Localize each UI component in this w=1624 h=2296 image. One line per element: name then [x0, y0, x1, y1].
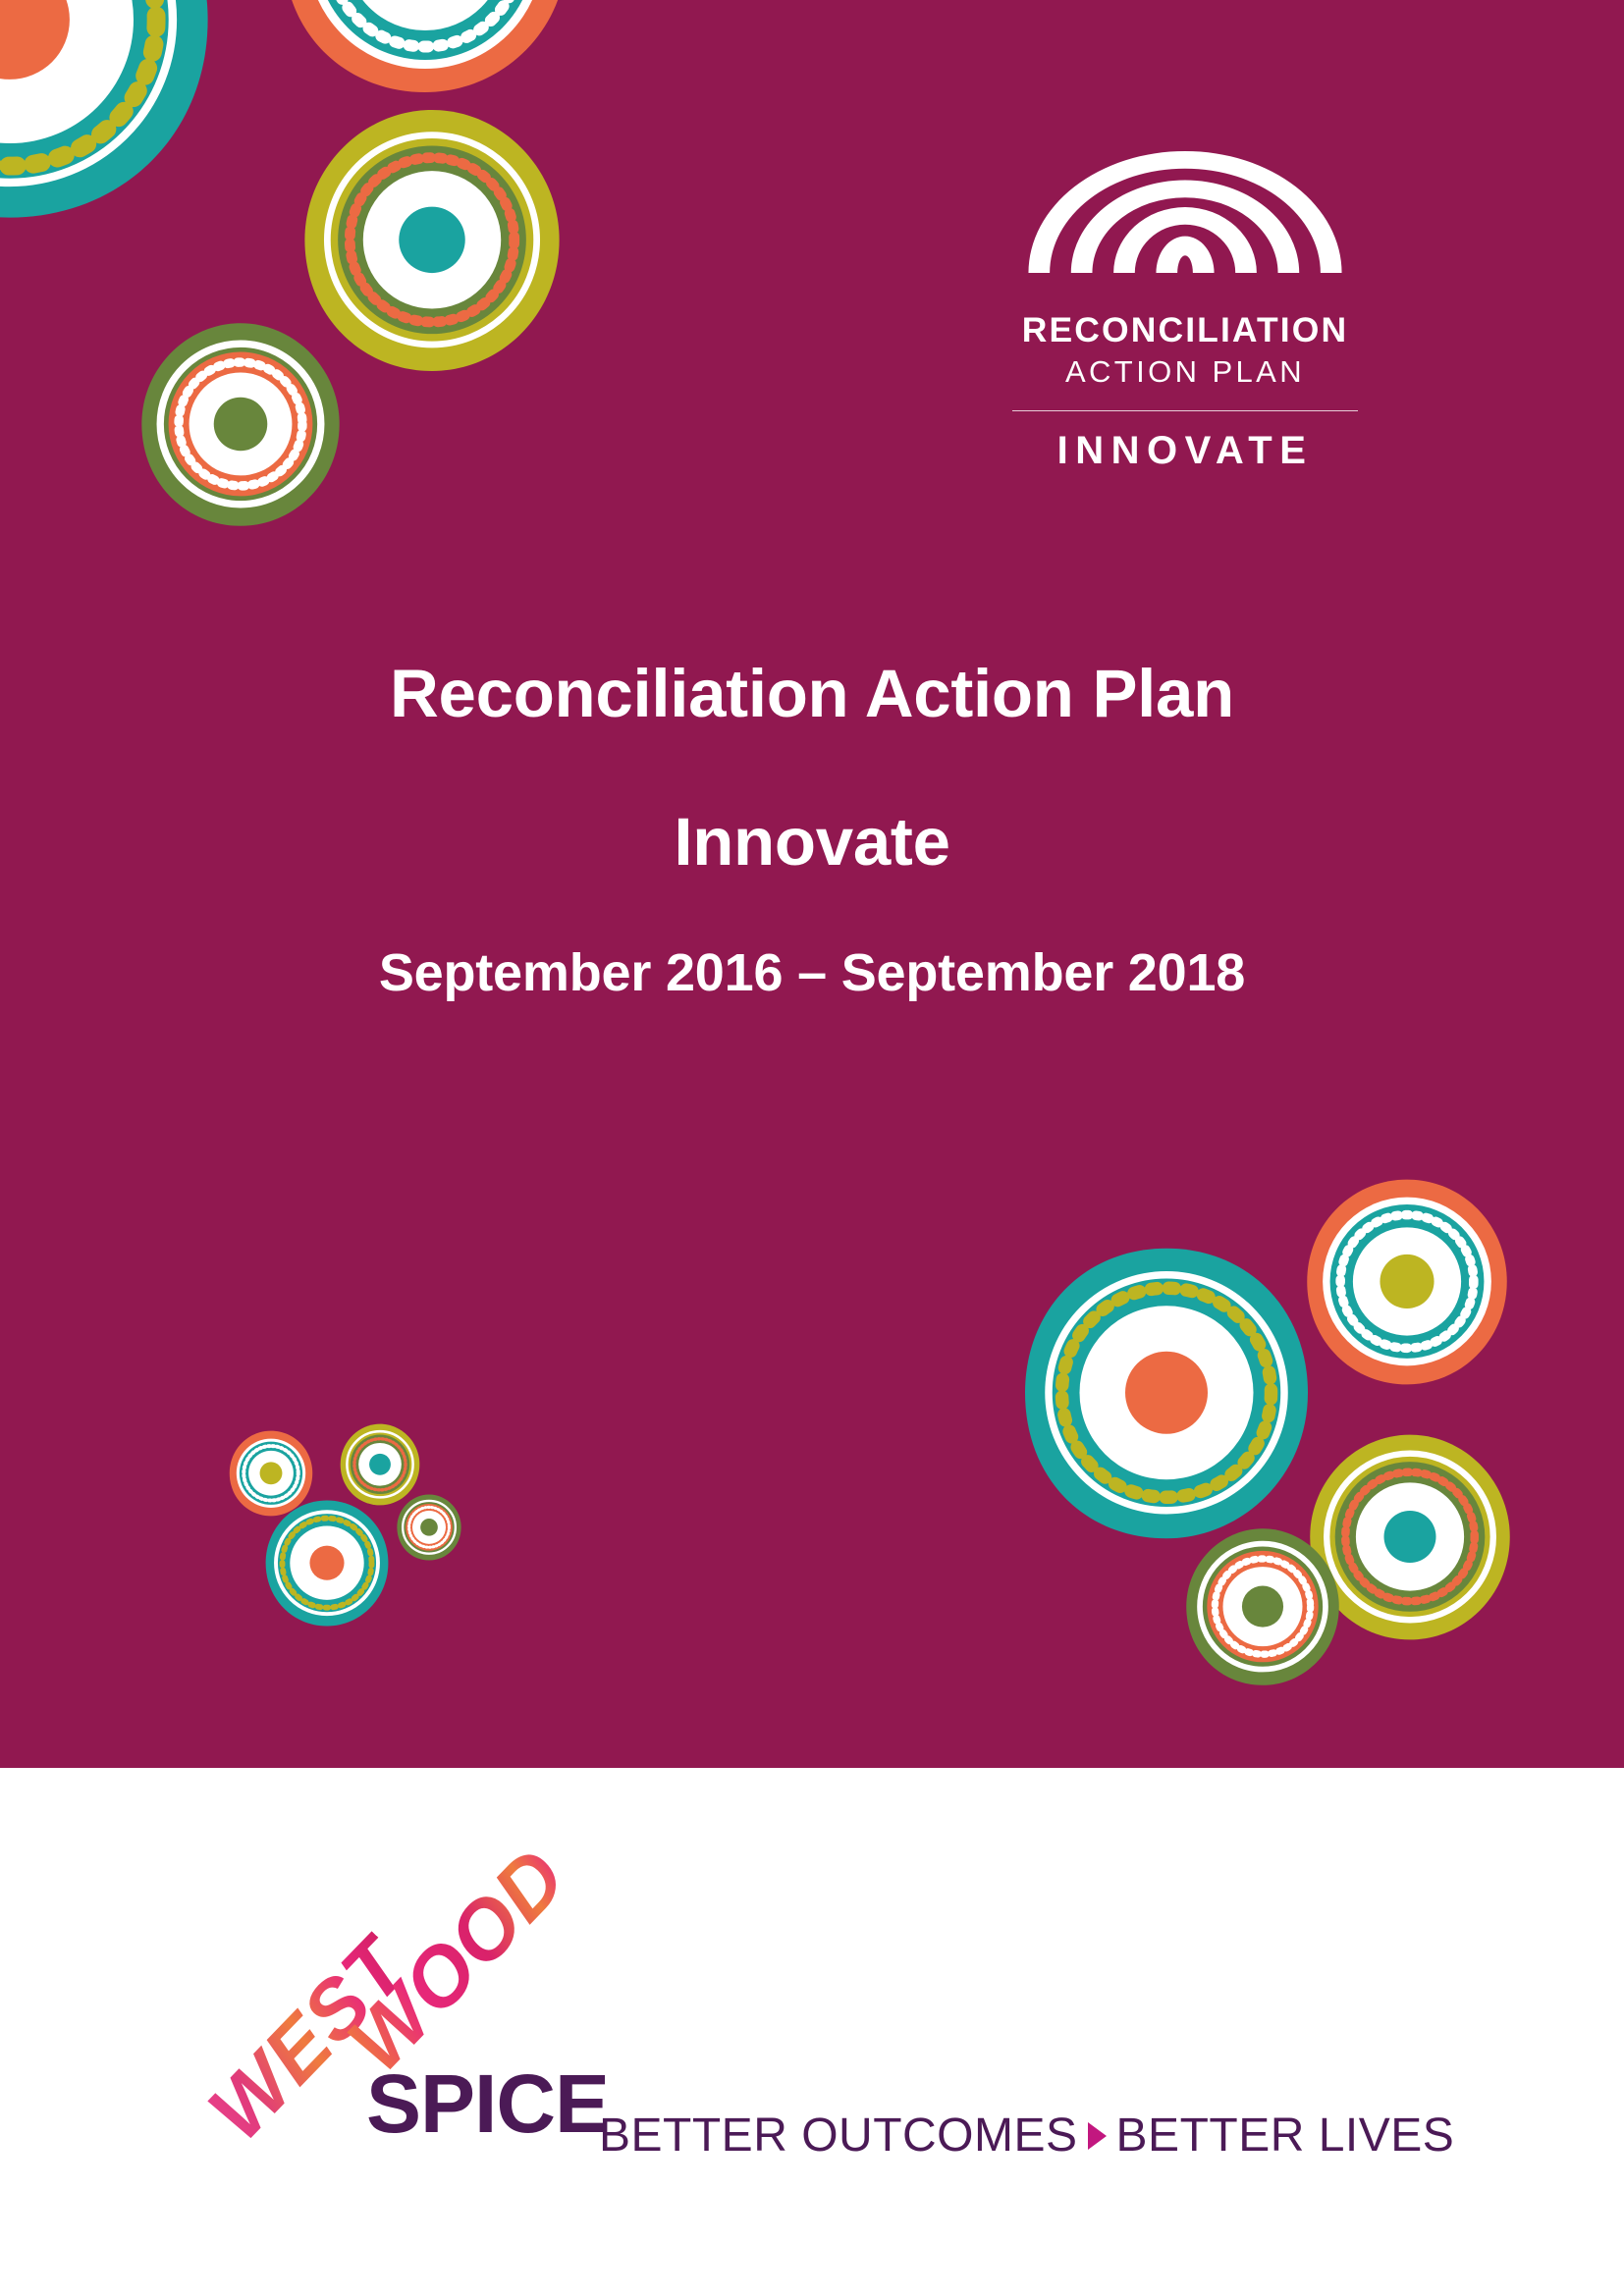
rap-logo-level: INNOVATE: [1003, 431, 1367, 470]
spice-wordmark: SPICE: [366, 2062, 609, 2145]
page-subtitle: Innovate: [0, 808, 1624, 876]
motif-bottom-right-teal: [1019, 1239, 1314, 1548]
rap-logo: RECONCILIATION ACTION PLAN INNOVATE: [1003, 147, 1367, 470]
cover-title-block: Reconciliation Action Plan Innovate Sept…: [0, 660, 1624, 999]
motif-bottom-right-orange: [1303, 1173, 1511, 1391]
motif-top-green: [137, 319, 344, 530]
page-title: Reconciliation Action Plan: [0, 660, 1624, 727]
footer-tagline: BETTER OUTCOMES BETTER LIVES: [599, 2109, 1454, 2163]
triangle-right-icon: [1088, 2122, 1107, 2150]
hero-panel: RECONCILIATION ACTION PLAN INNOVATE Reco…: [0, 0, 1624, 1768]
document-cover-page: RECONCILIATION ACTION PLAN INNOVATE Reco…: [0, 0, 1624, 2296]
rap-logo-divider: [1012, 410, 1358, 412]
footer-panel: WEST WOOD SPICE BETTER OUTCOMES BETTER L…: [0, 1768, 1624, 2296]
reconciliation-arcs-icon: [1018, 147, 1352, 275]
westwood-spice-logo: WEST WOOD SPICE BETTER OUTCOMES BETTER L…: [250, 1812, 1409, 2244]
rap-logo-line2: ACTION PLAN: [1003, 356, 1367, 389]
motif-top-left-teal: [0, 0, 216, 226]
motif-bottom-left-teal: [263, 1497, 391, 1629]
plan-period: September 2016 – September 2018: [0, 946, 1624, 999]
motif-top-orange: [278, 0, 572, 98]
rap-logo-line1: RECONCILIATION: [1003, 312, 1367, 348]
motif-bottom-right-green: [1183, 1523, 1342, 1690]
motif-bottom-left-small-green: [396, 1492, 462, 1563]
tagline-left: BETTER OUTCOMES: [599, 2109, 1078, 2163]
tagline-right: BETTER LIVES: [1116, 2109, 1455, 2163]
